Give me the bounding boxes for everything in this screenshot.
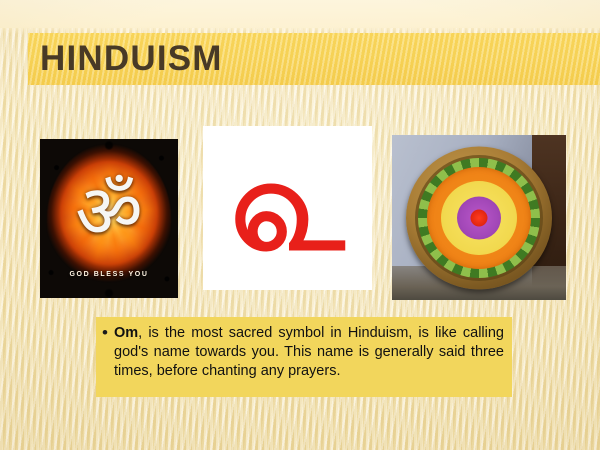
slide: Hinduism ॐ GOD BLESS YOU ௳ • Om, is the … <box>0 0 600 450</box>
rangoli-red-center <box>471 209 488 226</box>
image-floral-rangoli[interactable] <box>392 135 566 300</box>
tamil-om-glyph: ௳ <box>231 141 345 269</box>
ganesha-caption: GOD BLESS YOU <box>40 271 178 278</box>
body-paragraph: Om, is the most sacred symbol in Hinduis… <box>114 317 512 381</box>
page-title: Hinduism <box>40 34 223 84</box>
body-lead-term: Om <box>114 325 138 341</box>
bullet-icon: • <box>96 317 114 342</box>
image-tamil-om[interactable]: ௳ <box>203 126 372 290</box>
body-rest-text: , is the most sacred symbol in Hinduism,… <box>114 325 504 379</box>
ganesha-om-glyph: ॐ <box>75 175 143 249</box>
body-text-box: • Om, is the most sacred symbol in Hindu… <box>96 317 512 397</box>
image-ganesha-poster[interactable]: ॐ GOD BLESS YOU <box>40 139 178 298</box>
